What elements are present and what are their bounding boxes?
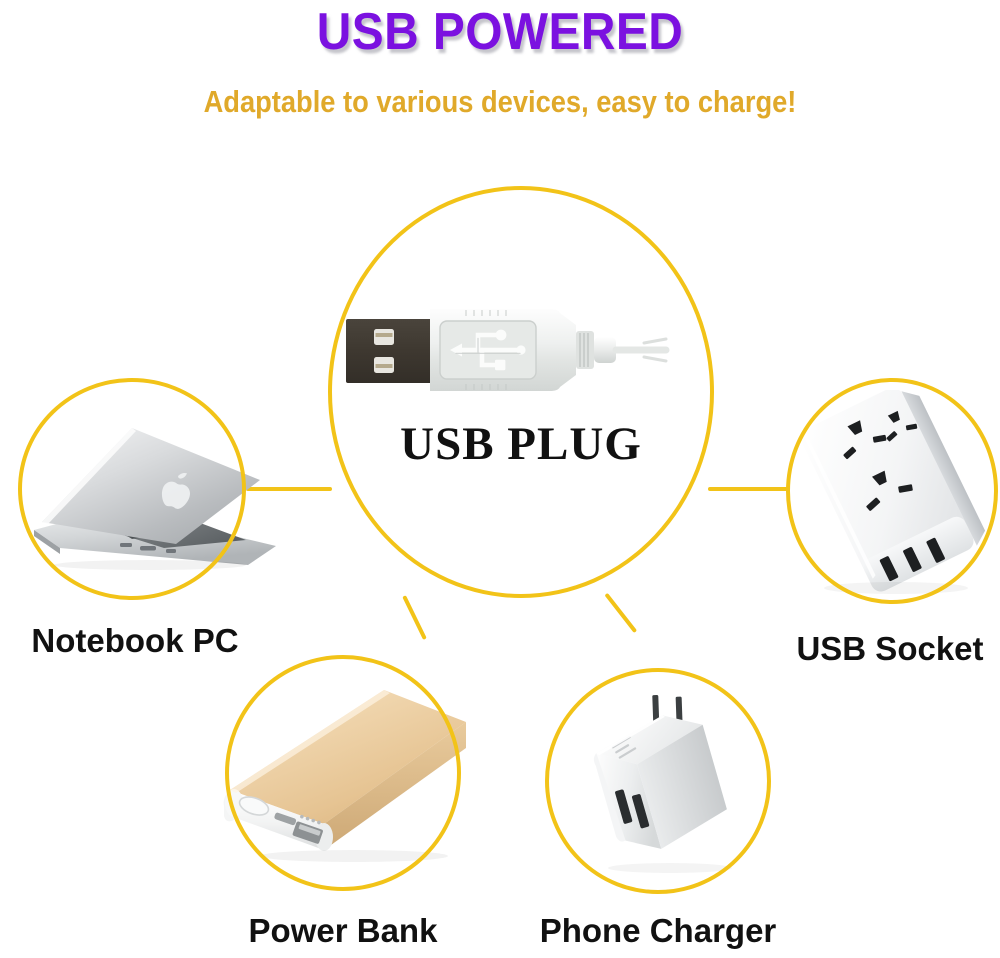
phone-charger-label: Phone Charger — [508, 912, 808, 950]
connector-center-to-power-bank — [402, 595, 427, 640]
power-bank-ring — [225, 655, 461, 891]
infographic-canvas: USB POWERED Adaptable to various devices… — [0, 0, 1000, 958]
connector-center-to-phone-charger — [604, 593, 637, 633]
page-subtitle: Adaptable to various devices, easy to ch… — [60, 84, 940, 120]
usb-socket-ring — [786, 378, 998, 604]
phone-charger-ring — [545, 668, 771, 894]
usb-socket-label: USB Socket — [740, 630, 1000, 668]
notebook-pc-label: Notebook PC — [0, 622, 280, 660]
power-bank-label: Power Bank — [198, 912, 488, 950]
page-title: USB POWERED — [40, 2, 960, 62]
usb-plug-icon — [344, 295, 674, 405]
connector-center-to-socket — [708, 487, 790, 491]
notebook-pc-ring — [18, 378, 246, 600]
center-node-label: USB PLUG — [328, 417, 714, 471]
